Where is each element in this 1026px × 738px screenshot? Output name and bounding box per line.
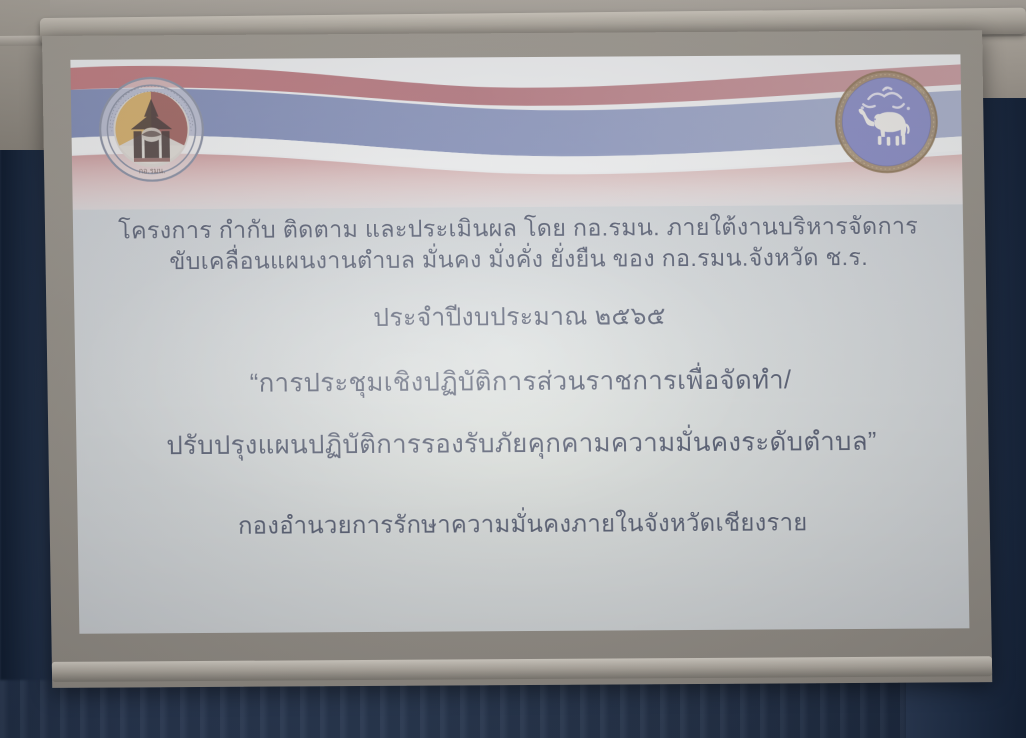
meeting-room-photo: กอ.รมน. [0,0,1026,738]
slide-line-2: ขับเคลื่อนแผนงานตำบล มั่นคง มั่งคั่ง ยั่… [73,241,964,277]
slide-line-3-fiscal-year: ประจำปีงบประมาณ ๒๕๖๕ [74,298,965,336]
isoc-emblem-logo: กอ.รมน. [97,75,207,184]
slide-line-5-title-part2: ปรับปรุงแผนปฏิบัติการรองรับภัยคุกคามความ… [76,424,967,464]
svg-text:กอ.รมน.: กอ.รมน. [139,166,166,175]
presentation-slide: กอ.รมน. [70,54,969,633]
chiang-rai-seal-logo [833,69,941,176]
slide-line-6-organization: กองอำนวยการรักษาความมั่นคงภายในจังหวัดเช… [77,506,968,543]
white-elephant-seal-icon [833,69,941,176]
projection-surface: กอ.รมน. [70,54,969,633]
projection-screen: กอ.รมน. [42,30,992,688]
slide-text-block: โครงการ กำกับ ติดตาม และประเมินผล โดย กอ… [73,204,968,543]
slide-banner: กอ.รมน. [70,54,962,209]
slide-line-4-title-part1: “การประชุมเชิงปฏิบัติการส่วนราชการเพื่อจ… [75,361,966,401]
isoc-emblem-icon: กอ.รมน. [97,75,207,184]
screen-weight-bar [52,656,992,682]
